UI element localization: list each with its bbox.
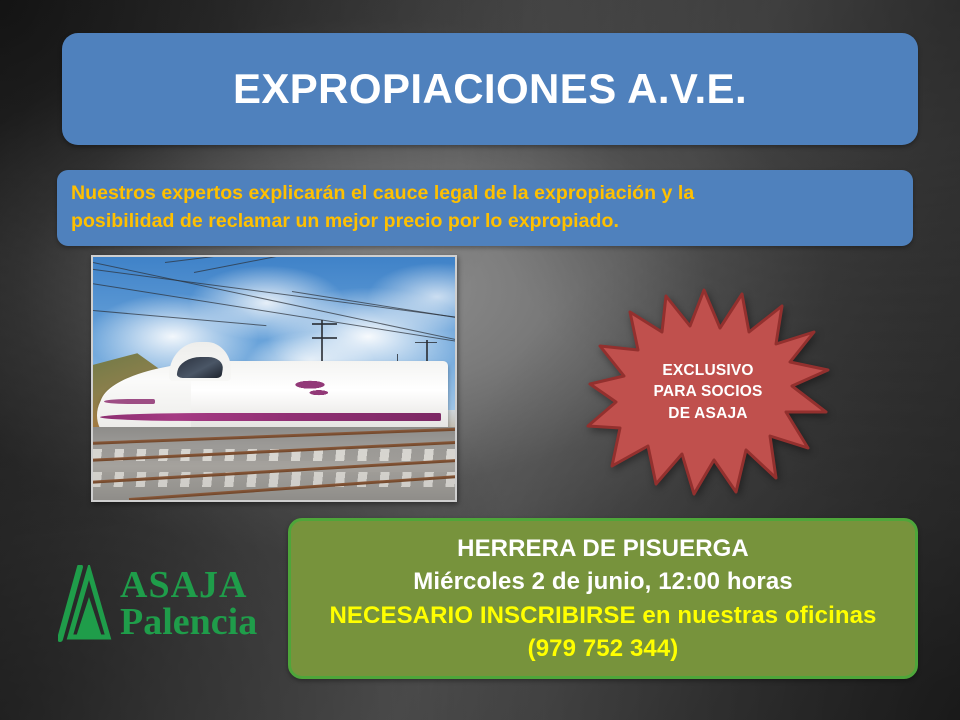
asaja-logo-words: ASAJA Palencia xyxy=(120,567,257,641)
event-info-box: HERRERA DE PISUERGA Miércoles 2 de junio… xyxy=(288,518,918,679)
subtitle-line-1: Nuestros expertos explicarán el cauce le… xyxy=(71,180,899,208)
starburst-icon xyxy=(586,288,830,496)
status-badge: EXCLUSIVO PARA SOCIOS DE ASAJA xyxy=(586,288,830,496)
event-phone: (979 752 344) xyxy=(528,632,679,665)
presentation-slide: EXPROPIACIONES A.V.E. Nuestros expertos … xyxy=(0,0,960,720)
train-stripe xyxy=(100,413,440,422)
event-location: HERRERA DE PISUERGA xyxy=(457,532,749,565)
title-banner: EXPROPIACIONES A.V.E. xyxy=(62,33,918,145)
renfe-logo-icon xyxy=(294,379,334,398)
page-title: EXPROPIACIONES A.V.E. xyxy=(233,67,747,111)
catenary-mast xyxy=(415,342,437,343)
train-photo-canvas xyxy=(93,257,455,500)
subtitle-line-2: posibilidad de reclamar un mejor precio … xyxy=(71,208,899,236)
catenary-mast xyxy=(312,337,337,339)
event-datetime: Miércoles 2 de junio, 12:00 horas xyxy=(413,565,792,598)
asaja-logo: ASAJA Palencia xyxy=(58,560,278,648)
catenary-mast xyxy=(312,323,337,325)
event-signup-notice: NECESARIO INSCRIBIRSE en nuestras oficin… xyxy=(330,599,877,632)
asaja-triangle-icon xyxy=(58,565,116,643)
asaja-logo-name: ASAJA xyxy=(120,567,257,603)
asaja-logo-province: Palencia xyxy=(120,603,257,641)
train-photo xyxy=(91,255,457,502)
subtitle-banner: Nuestros expertos explicarán el cauce le… xyxy=(57,170,913,246)
